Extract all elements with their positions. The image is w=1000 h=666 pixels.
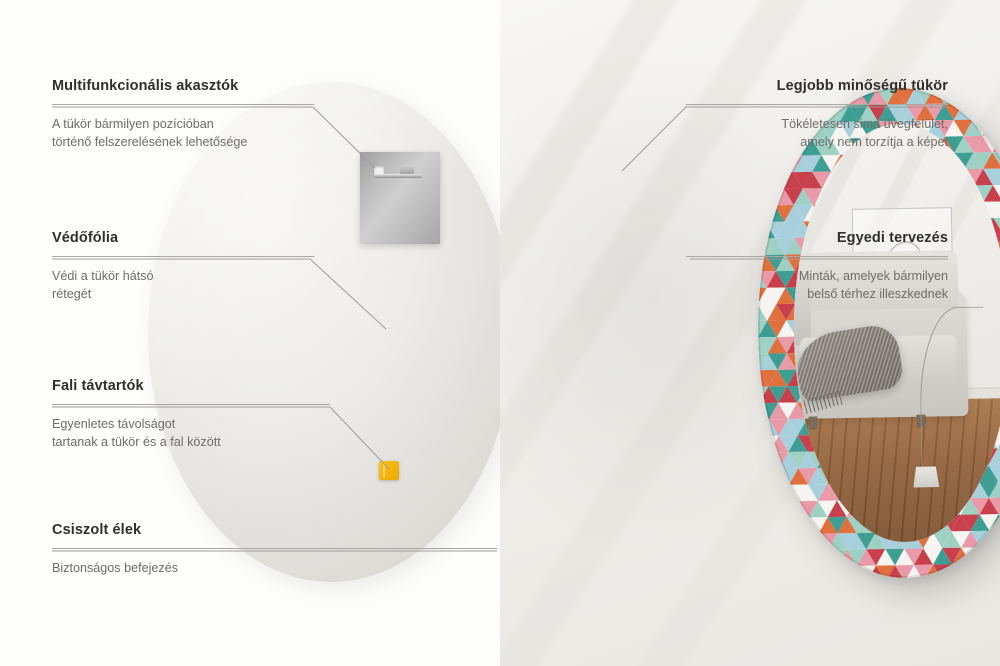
feature-rule [52, 256, 314, 257]
yellow-spacer [379, 461, 399, 480]
feature-rule [686, 104, 948, 105]
feature-block-hooks: Multifunkcionális akasztók A tükör bármi… [52, 78, 314, 152]
sofa-leg [808, 417, 817, 430]
mirror-glass [790, 122, 1000, 544]
mirror-back-surface [148, 82, 500, 582]
feature-heading: Egyedi tervezés [686, 230, 948, 247]
feature-block-unique-design: Egyedi tervezés Minták, amelyek bármilye… [686, 230, 948, 304]
feature-heading: Multifunkcionális akasztók [52, 78, 314, 95]
feature-rule [52, 404, 330, 405]
feature-heading: Fali távtartók [52, 378, 330, 395]
feature-body: Biztonságos befejezés [52, 560, 497, 578]
feature-block-polished-edges: Csiszolt élek Biztonságos befejezés [52, 522, 497, 578]
feature-heading: Védőfólia [52, 230, 314, 247]
feature-block-wall-spacers: Fali távtartók Egyenletes távolságot tar… [52, 378, 330, 452]
feature-block-best-quality-mirror: Legjobb minőségű tükör Tökéletesen sima … [686, 78, 948, 152]
hanger-nub [400, 165, 414, 174]
feature-body: Minták, amelyek bármilyen belső térhez i… [686, 268, 948, 304]
reflected-lamp-shade [913, 466, 939, 487]
round-mirror-product [758, 88, 1000, 578]
infographic-canvas: Multifunkcionális akasztók A tükör bármi… [0, 0, 1000, 666]
feature-rule [686, 256, 948, 257]
feature-heading: Csiszolt élek [52, 522, 497, 539]
feature-body: Tökéletesen sima üvegfelület, amely nem … [686, 116, 948, 152]
hanger-bar [374, 174, 422, 178]
feature-rule [52, 548, 497, 549]
feature-block-protective-film: Védőfólia Védi a tükör hátsó rétegét [52, 230, 314, 304]
feature-rule [52, 104, 314, 105]
feature-body: Védi a tükör hátsó rétegét [52, 268, 314, 304]
throw-fringe [803, 391, 843, 415]
mirror-body [754, 86, 1000, 581]
feature-body: Egyenletes távolságot tartanak a tükör é… [52, 416, 330, 452]
feature-heading: Legjobb minőségű tükör [686, 78, 948, 95]
feature-body: A tükör bármilyen pozícióban történő fel… [52, 116, 314, 152]
hanger-plate [360, 152, 440, 244]
